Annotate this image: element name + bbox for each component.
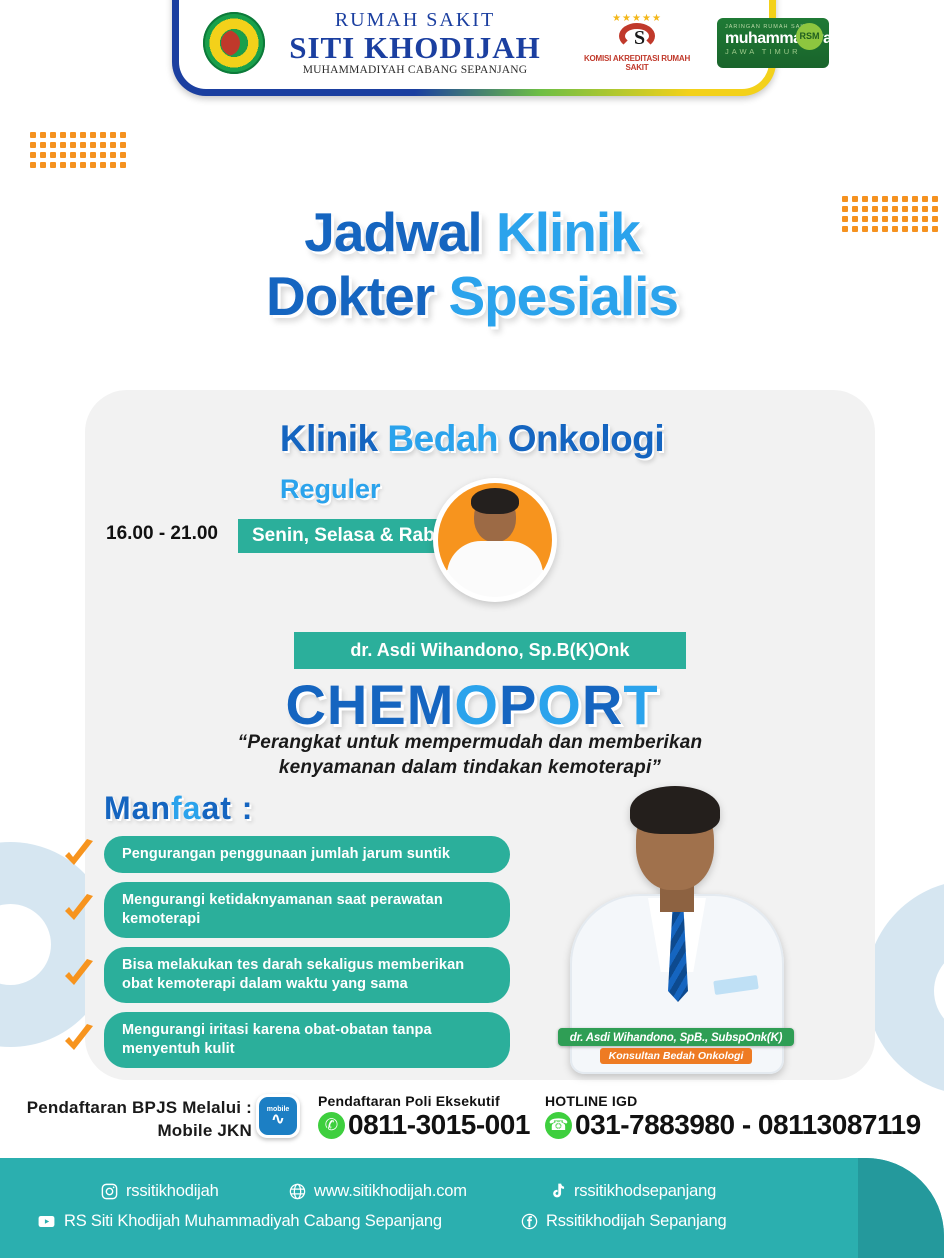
chemoport-letter-2: E <box>368 673 406 736</box>
clinic-word-onkologi: Onkologi <box>508 418 664 459</box>
social-instagram[interactable]: rssitikhodijah <box>100 1182 219 1201</box>
social-tiktok[interactable]: rssitikhodsepanjang <box>548 1182 716 1201</box>
hospital-name-block: RUMAH SAKIT SITI KHODIJAH MUHAMMADIYAH C… <box>279 9 551 77</box>
chemoport-letter-6: O <box>537 673 582 736</box>
benefit-text: Bisa melakukan tes darah sekaligus membe… <box>104 947 510 1003</box>
mobile-jkn-icon[interactable]: mobile ∿ <box>256 1094 300 1138</box>
jkn-wave-icon: ∿ <box>271 1113 284 1126</box>
hospital-title: SITI KHODIJAH <box>279 32 551 65</box>
doctor-photo: dr. Asdi Wihandono, SpB., SubspOnk(K) Ko… <box>556 782 796 1072</box>
chemoport-letter-1: H <box>327 673 368 736</box>
chemoport-quote: “Perangkat untuk mempermudah dan memberi… <box>170 730 770 780</box>
title-word-jadwal: Jadwal <box>304 201 481 263</box>
check-icon <box>60 1022 100 1058</box>
facebook-icon <box>520 1212 539 1231</box>
header-logo-bar: RUMAH SAKIT SITI KHODIJAH MUHAMMADIYAH C… <box>172 0 776 96</box>
page-title: Jadwal Klinik Dokter Spesialis <box>0 200 944 328</box>
rsm-network-logo: JARINGAN RUMAH SAKIT muhammadiyah JAWA T… <box>717 18 829 68</box>
social-facebook[interactable]: Rssitikhodijah Sepanjang <box>520 1212 727 1231</box>
schedule-time: 16.00 - 21.00 <box>106 523 218 545</box>
doctor-photo-subtitle: Konsultan Bedah Onkologi <box>600 1048 752 1064</box>
doctor-name-bar: dr. Asdi Wihandono, Sp.B(K)Onk <box>294 632 686 669</box>
doctor-portrait-circle <box>433 478 557 602</box>
chemoport-quote-line2: kenyamanan dalam tindakan kemoterapi” <box>170 755 770 780</box>
chemoport-letter-5: P <box>499 673 537 736</box>
social-facebook-page: Rssitikhodijah Sepanjang <box>546 1212 727 1231</box>
title-word-spesialis: Spesialis <box>449 265 678 327</box>
doctor-portrait-image <box>438 483 552 597</box>
clinic-word-bedah: Bedah <box>387 418 498 459</box>
poster-root: RUMAH SAKIT SITI KHODIJAH MUHAMMADIYAH C… <box>0 0 944 1258</box>
hospital-branch: MUHAMMADIYAH CABANG SEPANJANG <box>279 64 551 76</box>
clinic-title: Klinik Bedah Onkologi <box>0 418 944 460</box>
rsm-badge-icon: RSM <box>796 23 823 50</box>
social-website[interactable]: www.sitikhodijah.com <box>288 1182 467 1201</box>
schedule-days-badge: Senin, Selasa & Rabu <box>238 519 460 553</box>
doctor-photo-nameplate: dr. Asdi Wihandono, SpB., SubspOnk(K) <box>558 1028 794 1046</box>
social-instagram-handle: rssitikhodijah <box>126 1182 219 1201</box>
kars-stars-icon: ★★★★★ <box>573 14 701 23</box>
page-title-line1: Jadwal Klinik <box>0 200 944 264</box>
benefit-text: Mengurangi iritasi karena obat-obatan ta… <box>104 1012 510 1068</box>
chemoport-quote-line1: “Perangkat untuk mempermudah dan memberi… <box>170 730 770 755</box>
hotline-igd-number: 031-7883980 - 08113087119 <box>575 1109 921 1141</box>
schedule-type-label: Reguler <box>280 474 381 505</box>
poli-eksekutif-label: Pendaftaran Poli Eksekutif <box>318 1093 530 1109</box>
list-item: Bisa melakukan tes darah sekaligus membe… <box>60 947 510 1003</box>
social-tiktok-handle: rssitikhodsepanjang <box>574 1182 716 1201</box>
chemoport-letter-8: T <box>623 673 658 736</box>
hotline-igd-contact[interactable]: HOTLINE IGD ☎ 031-7883980 - 08113087119 <box>545 1093 921 1141</box>
hotline-igd-label: HOTLINE IGD <box>545 1093 921 1109</box>
check-icon <box>60 957 100 993</box>
benefits-heading: Manfaat : <box>104 790 253 827</box>
kars-caption: KOMISI AKREDITASI RUMAH SAKIT <box>573 54 701 72</box>
social-youtube-channel: RS Siti Khodijah Muhammadiyah Cabang Sep… <box>64 1212 442 1231</box>
list-item: Mengurangi iritasi karena obat-obatan ta… <box>60 1012 510 1068</box>
check-icon <box>60 837 100 873</box>
benefits-list: Pengurangan penggunaan jumlah jarum sunt… <box>60 836 510 1077</box>
bpjs-line2: Mobile JKN <box>22 1119 252 1142</box>
mobile-jkn-glyph: mobile ∿ <box>259 1097 297 1135</box>
kars-mark-icon: ★★★★★ <box>573 14 701 54</box>
clinic-word-klinik: Klinik <box>280 418 378 459</box>
page-title-line2: Dokter Spesialis <box>0 264 944 328</box>
poli-eksekutif-contact[interactable]: Pendaftaran Poli Eksekutif ✆ 0811-3015-0… <box>318 1093 530 1141</box>
whatsapp-icon[interactable]: ✆ <box>318 1112 345 1139</box>
benefit-text: Mengurangi ketidaknyamanan saat perawata… <box>104 882 510 938</box>
kars-accreditation-logo: ★★★★★ KOMISI AKREDITASI RUMAH SAKIT <box>573 14 701 72</box>
poli-eksekutif-row: ✆ 0811-3015-001 <box>318 1109 530 1141</box>
youtube-icon <box>36 1212 57 1231</box>
benefit-text: Pengurangan penggunaan jumlah jarum sunt… <box>104 836 510 873</box>
check-icon <box>60 892 100 928</box>
decorative-ring-right <box>866 880 944 1095</box>
telephone-icon[interactable]: ☎ <box>545 1112 572 1139</box>
dot-grid-left <box>30 132 126 168</box>
poli-eksekutif-number: 0811-3015-001 <box>348 1109 530 1141</box>
muhammadiyah-emblem-icon <box>203 12 265 74</box>
social-website-url: www.sitikhodijah.com <box>314 1182 467 1201</box>
list-item: Pengurangan penggunaan jumlah jarum sunt… <box>60 836 510 873</box>
tiktok-icon <box>548 1182 567 1201</box>
instagram-icon <box>100 1182 119 1201</box>
bpjs-line1: Pendaftaran BPJS Melalui : <box>22 1096 252 1119</box>
chemoport-letter-7: R <box>582 673 623 736</box>
hospital-prefix: RUMAH SAKIT <box>279 9 551 32</box>
social-youtube[interactable]: RS Siti Khodijah Muhammadiyah Cabang Sep… <box>36 1212 442 1231</box>
chemoport-letter-4: O <box>454 673 499 736</box>
title-word-klinik: Klinik <box>496 201 640 263</box>
chemoport-heading: CHEMOPORT <box>0 672 944 737</box>
bpjs-registration-text: Pendaftaran BPJS Melalui : Mobile JKN <box>22 1096 252 1142</box>
hotline-igd-row: ☎ 031-7883980 - 08113087119 <box>545 1109 921 1141</box>
footer-bar <box>0 1158 944 1258</box>
chemoport-letter-0: C <box>285 673 326 736</box>
chemoport-letter-3: M <box>407 673 455 736</box>
list-item: Mengurangi ketidaknyamanan saat perawata… <box>60 882 510 938</box>
kars-q-icon <box>619 23 655 49</box>
title-word-dokter: Dokter <box>266 265 434 327</box>
globe-icon <box>288 1182 307 1201</box>
